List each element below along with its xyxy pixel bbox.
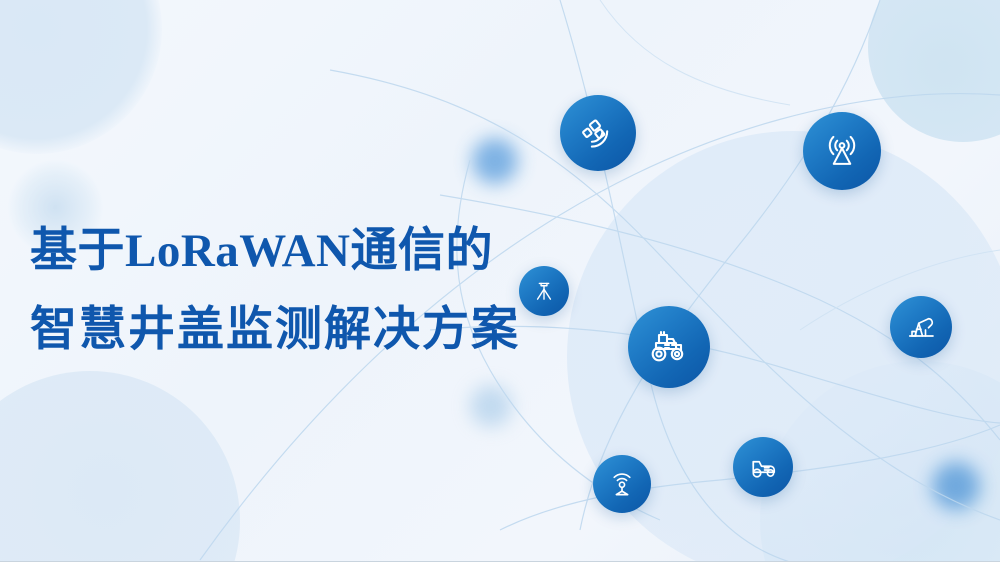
lawn-mower-icon — [745, 449, 781, 485]
background-blob-top-right — [868, 0, 1000, 142]
orbit-line-7 — [580, 0, 880, 530]
orbit-line-9 — [600, 0, 790, 105]
survey-tripod-icon — [530, 277, 558, 305]
broadcast-tower-icon — [820, 129, 864, 173]
background-blob-top-left — [0, 0, 162, 154]
tractor-icon — [645, 323, 693, 371]
node-tractor[interactable] — [628, 306, 710, 388]
node-oil-pump[interactable] — [890, 296, 952, 358]
slide-canvas: 基于LoRaWAN通信的 智慧井盖监测解决方案 — [0, 0, 1000, 562]
wireless-sensor-icon — [605, 467, 639, 501]
oil-pumpjack-icon — [903, 309, 939, 345]
background-blob-bottom-right — [760, 361, 1000, 562]
accent-dot-center — [470, 385, 512, 427]
node-satellite[interactable] — [560, 95, 636, 171]
title-block: 基于LoRaWAN通信的 智慧井盖监测解决方案 — [30, 228, 520, 354]
node-mower[interactable] — [733, 437, 793, 497]
node-antenna-tower[interactable] — [803, 112, 881, 190]
node-wireless-sensor[interactable] — [593, 455, 651, 513]
node-tripod[interactable] — [519, 266, 569, 316]
title-line-primary: 基于LoRaWAN通信的 — [30, 228, 520, 275]
satellite-dish-icon — [577, 112, 619, 154]
title-line-secondary: 智慧井盖监测解决方案 — [30, 307, 520, 354]
accent-dot-right — [932, 462, 980, 510]
background-blob-bottom-left — [0, 371, 240, 562]
accent-dot-upper — [472, 138, 518, 184]
